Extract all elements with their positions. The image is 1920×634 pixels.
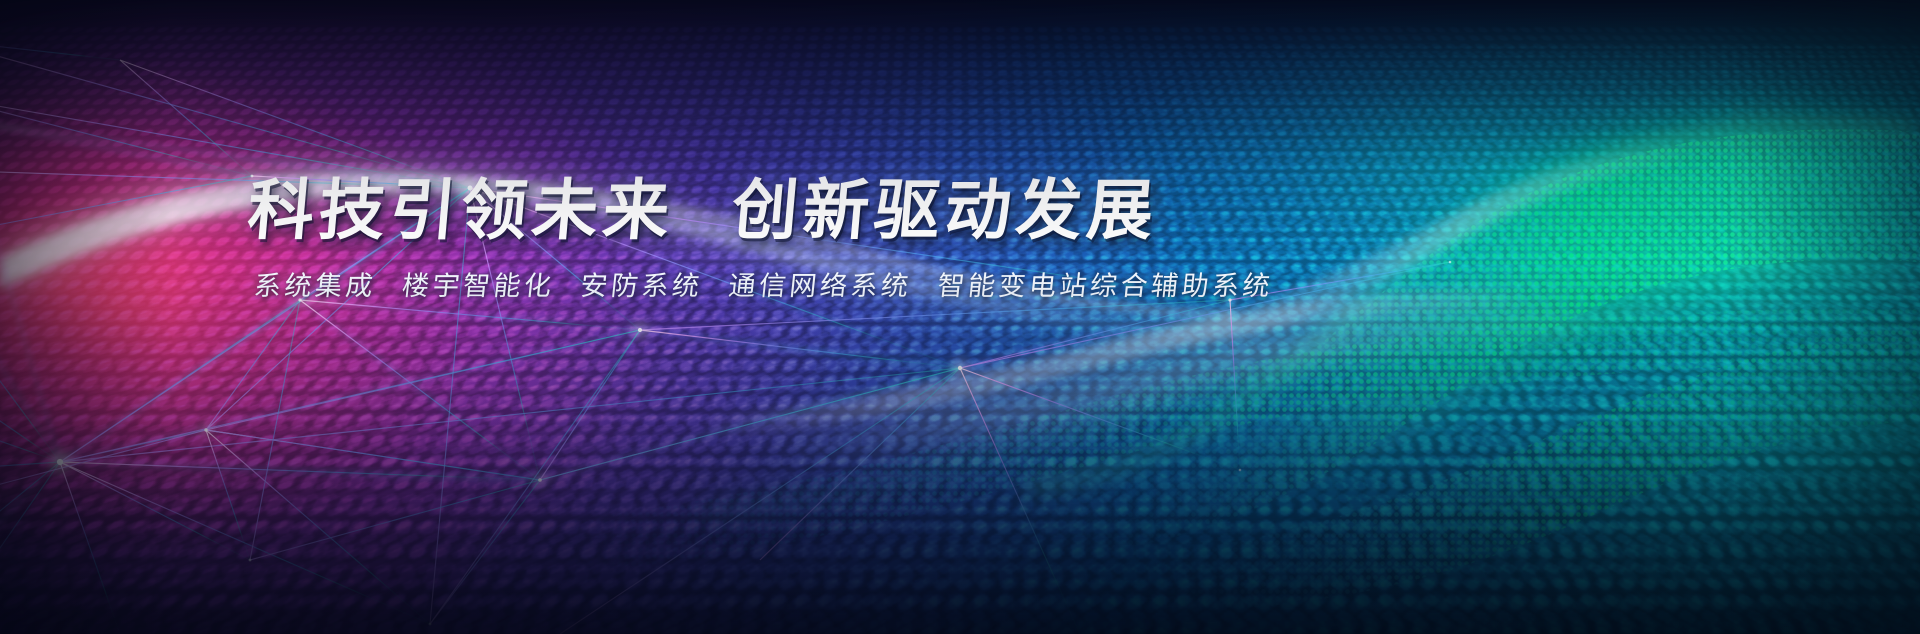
headline-segment-2: 创新驱动发展 — [729, 173, 1161, 247]
subtitle-item-2: 楼宇智能化 — [400, 271, 556, 301]
banner-text-block: 科技引领未来创新驱动发展 系统集成楼宇智能化安防系统通信网络系统智能变电站综合辅… — [248, 176, 1668, 302]
headline-segment-1: 科技引领未来 — [245, 173, 677, 247]
hero-banner: 科技引领未来创新驱动发展 系统集成楼宇智能化安防系统通信网络系统智能变电站综合辅… — [0, 0, 1920, 634]
wireframe-network — [0, 0, 1920, 634]
banner-subtitle: 系统集成楼宇智能化安防系统通信网络系统智能变电站综合辅助系统 — [252, 270, 1669, 302]
subtitle-item-4: 通信网络系统 — [727, 271, 913, 301]
banner-headline: 科技引领未来创新驱动发展 — [245, 176, 1671, 246]
subtitle-item-3: 安防系统 — [579, 271, 704, 301]
subtitle-item-1: 系统集成 — [252, 271, 377, 301]
subtitle-item-5: 智能变电站综合辅助系统 — [936, 271, 1275, 301]
